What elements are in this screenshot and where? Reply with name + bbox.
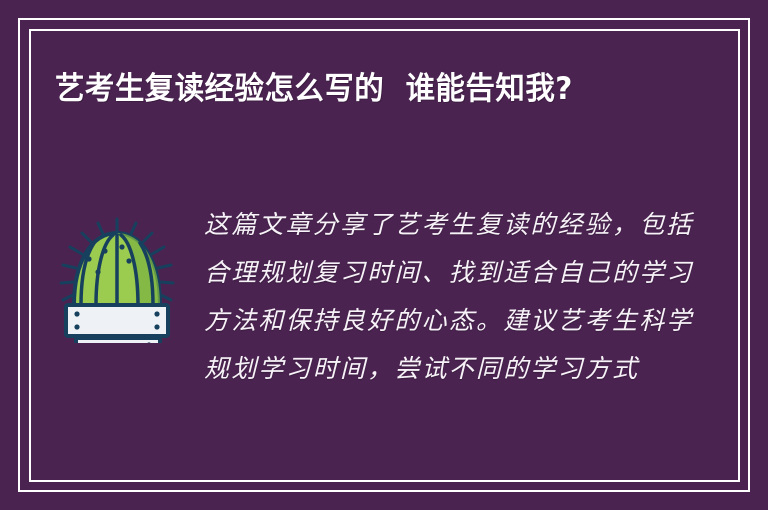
cactus-icon (58, 217, 176, 343)
content-row: 这篇文章分享了艺考生复读的经验，包括合理规划复习时间、找到适合自己的学习方法和保… (29, 201, 740, 393)
page-title: 艺考生复读经验怎么写的 谁能告知我? (55, 63, 663, 115)
article-summary: 这篇文章分享了艺考生复读的经验，包括合理规划复习时间、找到适合自己的学习方法和保… (204, 201, 740, 393)
article-cover-card: 艺考生复读经验怎么写的 谁能告知我? (29, 29, 740, 482)
illustration-container (29, 201, 204, 343)
